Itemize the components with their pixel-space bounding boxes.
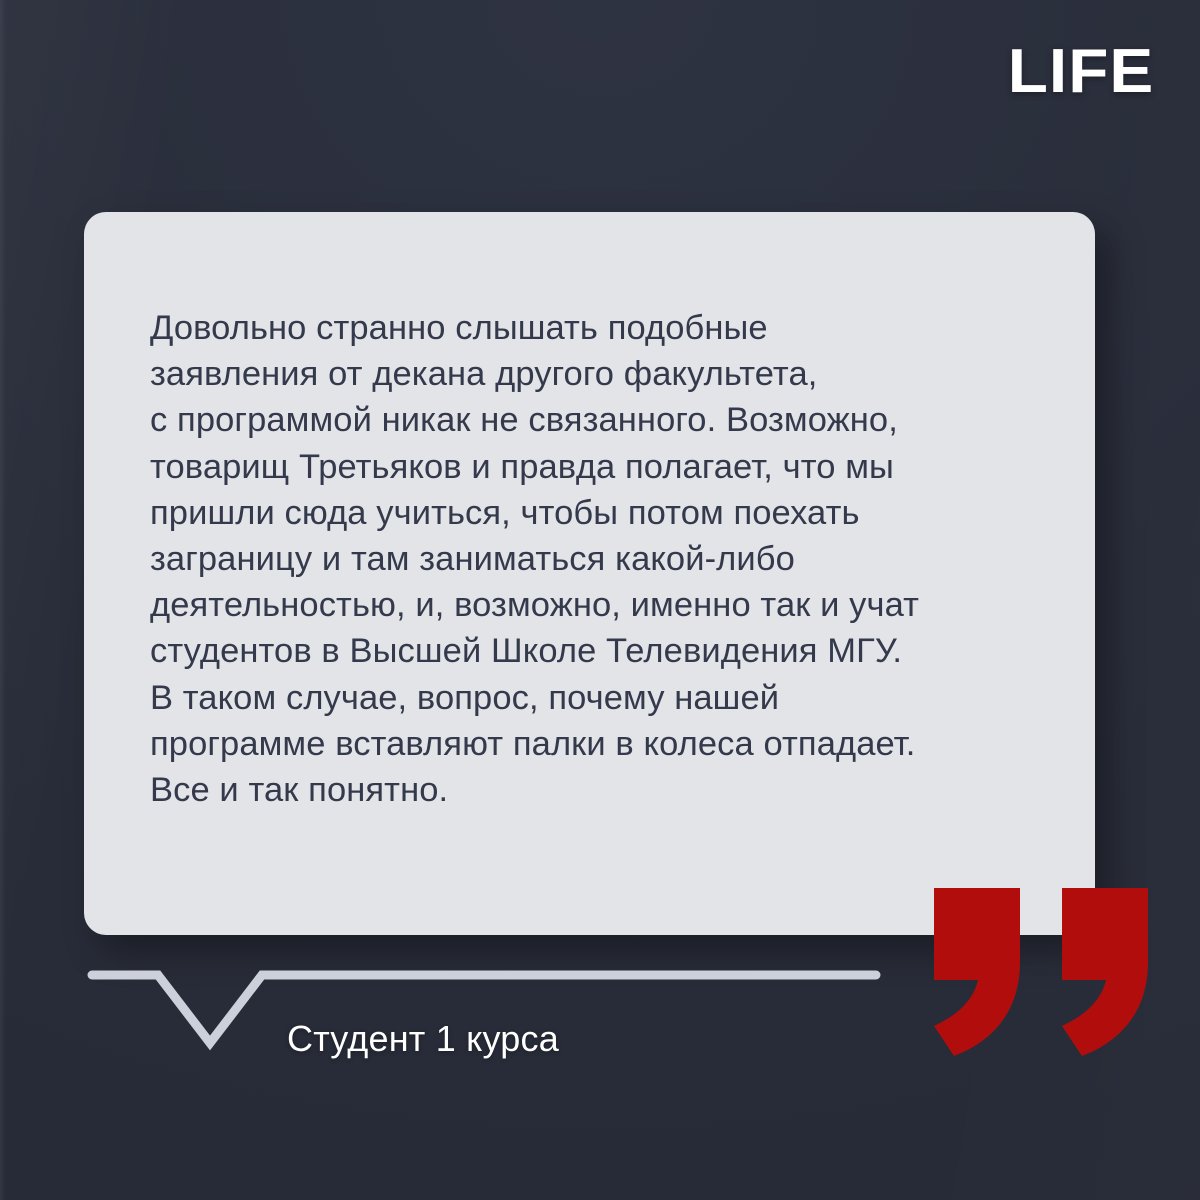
life-logo: LIFE xyxy=(1007,41,1154,103)
quote-text: Довольно странно слышать подобные заявле… xyxy=(150,305,1049,813)
quote-card: Довольно странно слышать подобные заявле… xyxy=(84,212,1095,935)
quote-card-graphic: LIFE Довольно странно слышать подобные з… xyxy=(0,0,1200,1200)
attribution-label: Студент 1 курса xyxy=(287,1017,559,1061)
